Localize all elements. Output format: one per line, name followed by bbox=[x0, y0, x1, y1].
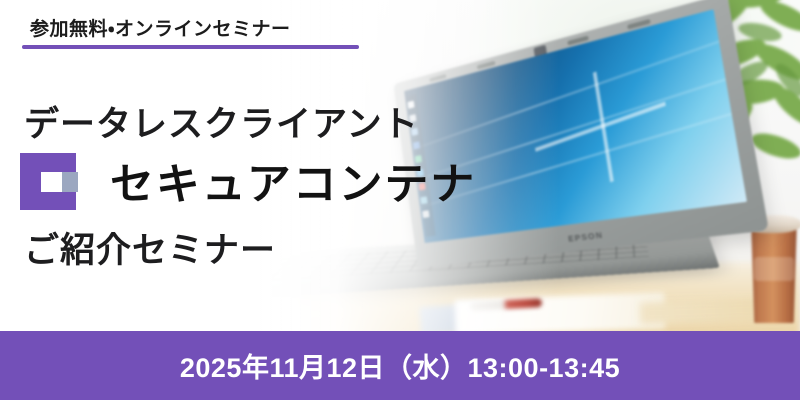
product-name-text: セキュアコンテナ bbox=[110, 150, 476, 212]
eyebrow-block: 参加無料・オンラインセミナー bbox=[22, 14, 359, 49]
logo-white-block bbox=[41, 172, 62, 192]
headline-line-1: データレスクライアント bbox=[24, 96, 419, 147]
eyebrow-underline bbox=[22, 45, 359, 49]
date-bar: 2025年11月12日（水）13:00-13:45 bbox=[0, 331, 800, 400]
product-brand-row: セキュアコンテナ bbox=[20, 150, 469, 212]
logo-gray-block bbox=[62, 172, 78, 192]
seminar-banner: EPSON 参加無料・オンラインセミナー データレスクライアント セキュアコンテ… bbox=[0, 0, 800, 400]
secure-container-logo-icon bbox=[20, 153, 76, 210]
headline-line-3: ご紹介セミナー bbox=[24, 222, 276, 273]
eyebrow-text: 参加無料・オンラインセミナー bbox=[22, 14, 359, 41]
laptop-brand-label: EPSON bbox=[568, 232, 604, 244]
seminar-date-text: 2025年11月12日（水）13:00-13:45 bbox=[180, 346, 620, 385]
